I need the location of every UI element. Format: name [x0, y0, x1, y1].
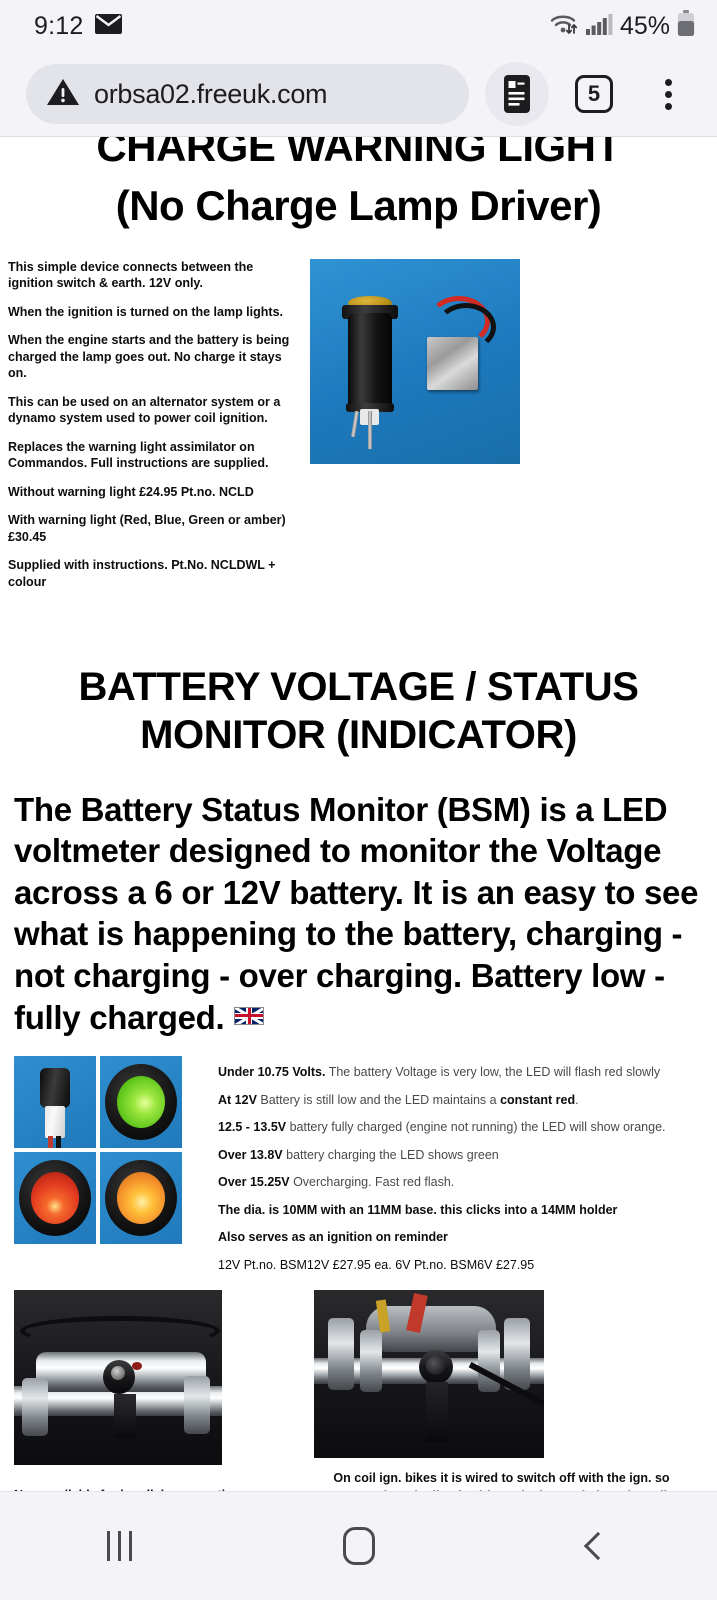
charge-warning-light-title-line2: (No Charge Lamp Driver) — [0, 180, 717, 233]
tab-switcher-button[interactable]: 5 — [565, 62, 623, 126]
browser-toolbar: orbsa02.freeuk.com 5 — [0, 52, 717, 136]
spec-line: Under 10.75 Volts. The battery Voltage i… — [218, 1064, 693, 1081]
reader-mode-icon — [502, 74, 532, 114]
cellular-signal-icon — [586, 13, 613, 40]
union-jack-flag-icon — [234, 1007, 264, 1025]
black-wire — [436, 303, 496, 351]
handlebar-right-captions: On coil ign. bikes it is wired to switch… — [300, 1470, 695, 1491]
spec-text: battery fully charged (engine not runnin… — [286, 1120, 665, 1134]
bsm-intro-paragraph: The Battery Status Monitor (BSM) is a LE… — [0, 789, 717, 1038]
section1-paragraph: Without warning light £24.95 Pt.no. NCLD — [8, 484, 290, 501]
red-lead — [48, 1136, 53, 1148]
bsm-label — [45, 1106, 65, 1138]
battery-percent-label: 45% — [620, 12, 670, 41]
bsm-heading-line1: BATTERY VOLTAGE / STATUS — [0, 664, 717, 711]
led-bezel — [105, 1064, 177, 1140]
recent-apps-button[interactable] — [50, 1511, 190, 1581]
spec-text: battery charging the LED shows green — [283, 1148, 499, 1162]
wifi-icon — [549, 12, 579, 41]
spec-label: At 12V — [218, 1093, 257, 1107]
address-bar[interactable]: orbsa02.freeuk.com — [26, 64, 469, 124]
orange-led-dome — [117, 1172, 165, 1224]
spec-dimension-line: The dia. is 10MM with an 11MM base. this… — [218, 1202, 693, 1219]
status-bar: 9:12 — [0, 0, 717, 52]
clamp-bolt-left — [360, 1330, 382, 1392]
status-bar-left: 9:12 — [34, 12, 122, 41]
green-led-photo — [100, 1056, 182, 1148]
fork-top-right — [504, 1318, 530, 1390]
spec-line: 12.5 - 13.5V battery fully charged (engi… — [218, 1119, 693, 1136]
spec-label: Over 15.25V — [218, 1175, 290, 1189]
fork-top-left — [328, 1318, 354, 1390]
url-text: orbsa02.freeuk.com — [94, 79, 327, 110]
led-bezel — [19, 1160, 91, 1236]
handlebar-right-column: On coil ign. bikes it is wired to switch… — [300, 1290, 717, 1491]
android-navigation-bar — [0, 1491, 717, 1600]
section1-text-column: This simple device connects between the … — [0, 259, 300, 603]
charge-warning-light-title-line1: CHARGE WARNING LIGHT — [0, 136, 717, 174]
red-led-dome — [31, 1172, 79, 1224]
envelope-icon — [95, 14, 122, 39]
bsm-heading-line2: MONITOR (INDICATOR) — [0, 712, 717, 759]
browser-menu-button[interactable] — [639, 62, 697, 126]
section1-body: This simple device connects between the … — [0, 259, 717, 603]
section1-paragraph: When the ignition is turned on the lamp … — [8, 304, 290, 321]
lamp-pin — [351, 411, 359, 437]
handlebar-photos-row: Now available for handlebar mounting usi… — [0, 1290, 717, 1491]
status-bar-right: 45% — [549, 10, 695, 42]
lamp-body — [348, 313, 392, 409]
section1-paragraph: With warning light (Red, Blue, Green or … — [8, 512, 290, 545]
orange-led-photo — [100, 1152, 182, 1244]
recent-apps-icon — [107, 1531, 132, 1561]
bsm-led-and-specs-row: Under 10.75 Volts. The battery Voltage i… — [0, 1056, 717, 1284]
clamp-bolt-right — [478, 1330, 500, 1392]
handlebar-yoke-photo — [314, 1290, 544, 1458]
clamp-bolt-left — [22, 1378, 48, 1436]
led-stem — [426, 1382, 448, 1442]
tab-count-label: 5 — [575, 75, 613, 113]
bsm-price-line: 12V Pt.no. BSM12V £27.95 ea. 6V Pt.no. B… — [218, 1257, 693, 1274]
section1-paragraph: When the engine starts and the battery i… — [8, 332, 290, 382]
led-stem — [114, 1394, 136, 1438]
lamp-pin — [368, 411, 372, 449]
back-chevron-icon — [583, 1532, 611, 1560]
reader-mode-button[interactable] — [485, 62, 549, 126]
green-led-dome — [117, 1076, 165, 1128]
black-lead — [56, 1136, 61, 1148]
back-button[interactable] — [528, 1511, 668, 1581]
web-page-viewport[interactable]: CHARGE WARNING LIGHT (No Charge Lamp Dri… — [0, 136, 717, 1491]
spec-text: Overcharging. Fast red flash. — [290, 1175, 455, 1189]
phone-screen: 9:12 — [0, 0, 717, 1600]
bsm-unit-photo — [14, 1056, 96, 1148]
home-icon — [343, 1527, 375, 1565]
spec-text: The battery Voltage is very low, the LED… — [325, 1065, 660, 1079]
battery-icon — [677, 10, 695, 42]
coil-ign-caption: On coil ign. bikes it is wired to switch… — [314, 1470, 689, 1491]
led-bezel — [105, 1160, 177, 1236]
page-content: CHARGE WARNING LIGHT (No Charge Lamp Dri… — [0, 136, 717, 1491]
led-photo-grid — [0, 1056, 184, 1284]
spec-line: Over 15.25V Overcharging. Fast red flash… — [218, 1174, 693, 1191]
charge-warning-lamp-photo — [310, 259, 520, 464]
bsm-led-housing — [40, 1068, 70, 1108]
spec-label: Over 13.8V — [218, 1148, 283, 1162]
section1-paragraph: Supplied with instructions. Pt.No. NCLDW… — [8, 557, 290, 590]
red-led-photo — [14, 1152, 96, 1244]
section1-paragraph: This can be used on an alternator system… — [8, 394, 290, 427]
status-clock: 9:12 — [34, 12, 83, 41]
spec-text-tail: . — [575, 1093, 578, 1107]
spec-reminder-line: Also serves as an ignition on reminder — [218, 1229, 693, 1246]
more-options-icon — [665, 79, 672, 110]
handlebar-clamp-photo — [14, 1290, 222, 1465]
bsm-intro-text: The Battery Status Monitor (BSM) is a LE… — [14, 791, 698, 1036]
spec-line: Over 13.8V battery charging the LED show… — [218, 1147, 693, 1164]
spec-line: At 12V Battery is still low and the LED … — [218, 1092, 693, 1109]
home-button[interactable] — [289, 1511, 429, 1581]
clamp-bolt-right — [184, 1376, 210, 1434]
spec-text: Battery is still low and the LED maintai… — [257, 1093, 500, 1107]
bsm-spec-list: Under 10.75 Volts. The battery Voltage i… — [184, 1056, 717, 1284]
brake-cable — [20, 1316, 220, 1346]
handlebar-left-column: Now available for handlebar mounting usi… — [0, 1290, 300, 1491]
spec-emphasis: constant red — [500, 1093, 575, 1107]
section1-paragraph: This simple device connects between the … — [8, 259, 290, 292]
not-secure-warning-icon[interactable] — [46, 77, 80, 112]
spec-label: 12.5 - 13.5V — [218, 1120, 286, 1134]
spec-label: Under 10.75 Volts. — [218, 1065, 325, 1079]
section1-paragraph: Replaces the warning light assimilator o… — [8, 439, 290, 472]
